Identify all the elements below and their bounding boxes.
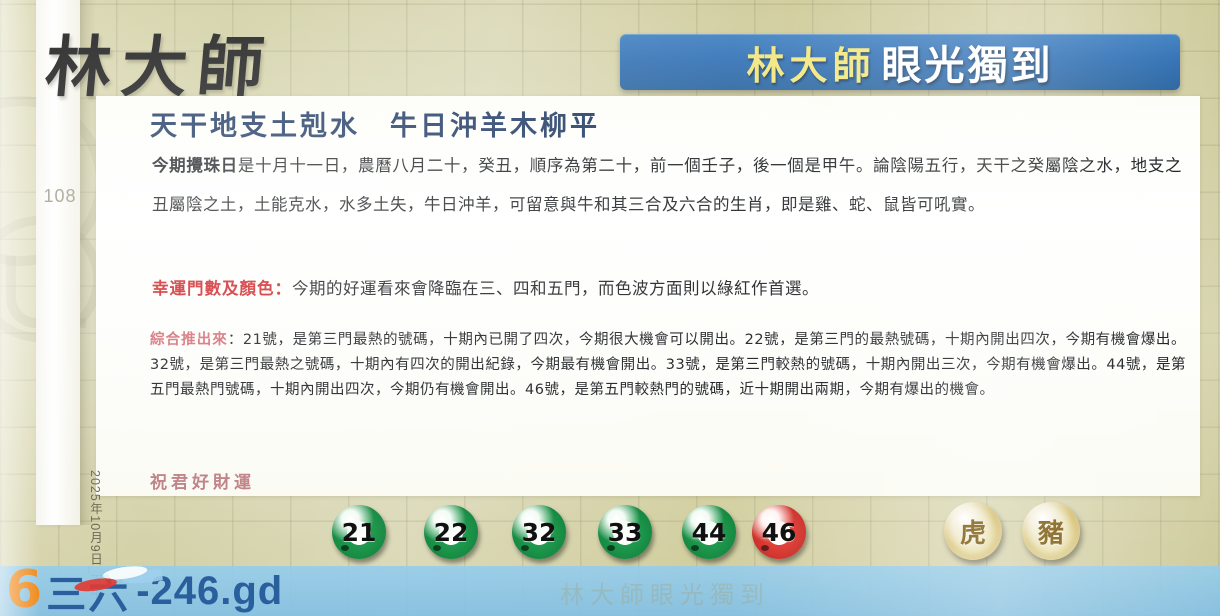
watermark-digit: 6 <box>6 564 42 616</box>
summary-heading: 綜合推出來 <box>150 332 228 348</box>
lottery-ball[interactable]: 21 <box>332 505 386 559</box>
lottery-ball[interactable]: 46 <box>752 505 806 559</box>
good-luck-note: 祝君好財運 <box>150 468 255 493</box>
banner-highlight-text: 林大師 <box>746 35 875 90</box>
lottery-ball[interactable]: 33 <box>598 505 652 559</box>
article-title: 天干地支土剋水 牛日沖羊木柳平 <box>150 104 600 143</box>
article-paragraph-3: 綜合推出來：21號，是第三門最熱的號碼，十期內已開了四次，今期很大機會可以開出。… <box>150 328 1186 403</box>
paragraph-3-body: ：21號，是第三門最熱的號碼，十期內已開了四次，今期很大機會可以開出。22號，是… <box>150 332 1186 398</box>
lottery-ball[interactable]: 44 <box>682 505 736 559</box>
ball-number: 32 <box>522 518 557 547</box>
paragraph-1-body: 是十月十一日，農曆八月二十，癸丑，順序為第二十，前一個壬子，後一個是甲午。論陰陽… <box>152 156 1182 214</box>
zodiac-label: 虎 <box>960 513 986 550</box>
headline-banner: 林大師 眼光獨到 <box>620 34 1180 90</box>
page-background: 108 林大師 林大師 眼光獨到 天干地支土剋水 牛日沖羊木柳平 今期攪珠日是十… <box>0 0 1220 616</box>
ball-number: 33 <box>608 518 643 547</box>
lottery-ball[interactable]: 22 <box>424 505 478 559</box>
ball-number: 46 <box>762 518 797 547</box>
ball-number: 44 <box>692 518 727 547</box>
lucky-gate-heading: 幸運門數及顏色： <box>152 279 292 298</box>
paragraph-1-lead: 今期攪珠日 <box>152 156 238 175</box>
paragraph-2-body: 今期的好運看來會降臨在三、四和五門，而色波方面則以綠紅作首選。 <box>292 279 819 298</box>
article-paragraph-2: 幸運門數及顏色：今期的好運看來會降臨在三、四和五門，而色波方面則以綠紅作首選。 <box>152 272 1182 306</box>
lottery-ball[interactable]: 32 <box>512 505 566 559</box>
zodiac-medallion[interactable]: 虎 <box>944 502 1002 560</box>
banner-text: 眼光獨到 <box>882 33 1054 91</box>
ball-number: 22 <box>434 518 469 547</box>
ghost-watermark-text: 林大師眼光獨到 <box>560 575 770 610</box>
page-number: 108 <box>38 186 82 207</box>
zodiac-medallion[interactable]: 豬 <box>1022 502 1080 560</box>
article-paragraph-1: 今期攪珠日是十月十一日，農曆八月二十，癸丑，順序為第二十，前一個壬子，後一個是甲… <box>152 146 1182 224</box>
ball-number: 21 <box>342 518 377 547</box>
zodiac-label: 豬 <box>1038 513 1064 550</box>
